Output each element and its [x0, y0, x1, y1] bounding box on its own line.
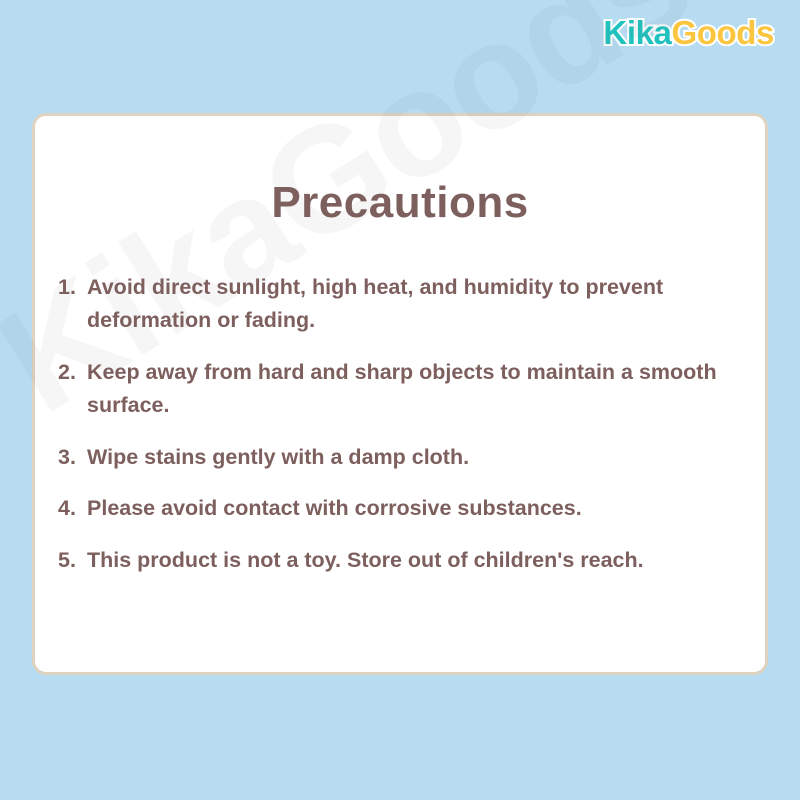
list-item-number: 4.: [58, 492, 87, 525]
list-item: 3. Wipe stains gently with a damp cloth.: [58, 441, 747, 474]
list-item: 5. This product is not a toy. Store out …: [58, 544, 747, 577]
brand-logo: KikaGoods: [603, 16, 774, 49]
precautions-card: Precautions 1. Avoid direct sunlight, hi…: [32, 113, 768, 675]
brand-name-secondary: Goods: [672, 14, 775, 51]
list-item: 4. Please avoid contact with corrosive s…: [58, 492, 747, 525]
list-item-text: Please avoid contact with corrosive subs…: [87, 492, 747, 525]
list-item-number: 2.: [58, 356, 87, 389]
precautions-list: 1. Avoid direct sunlight, high heat, and…: [58, 271, 747, 577]
list-item-number: 5.: [58, 544, 87, 577]
card-content: Precautions 1. Avoid direct sunlight, hi…: [35, 116, 765, 672]
list-item: 2. Keep away from hard and sharp objects…: [58, 356, 747, 422]
list-item-number: 1.: [58, 271, 87, 304]
list-item-text: Wipe stains gently with a damp cloth.: [87, 441, 747, 474]
list-item-text: This product is not a toy. Store out of …: [87, 544, 747, 577]
list-item: 1. Avoid direct sunlight, high heat, and…: [58, 271, 747, 337]
page-title: Precautions: [35, 178, 765, 228]
list-item-text: Keep away from hard and sharp objects to…: [87, 356, 747, 422]
list-item-number: 3.: [58, 441, 87, 474]
list-item-text: Avoid direct sunlight, high heat, and hu…: [87, 271, 747, 337]
brand-name-primary: Kika: [603, 14, 671, 51]
